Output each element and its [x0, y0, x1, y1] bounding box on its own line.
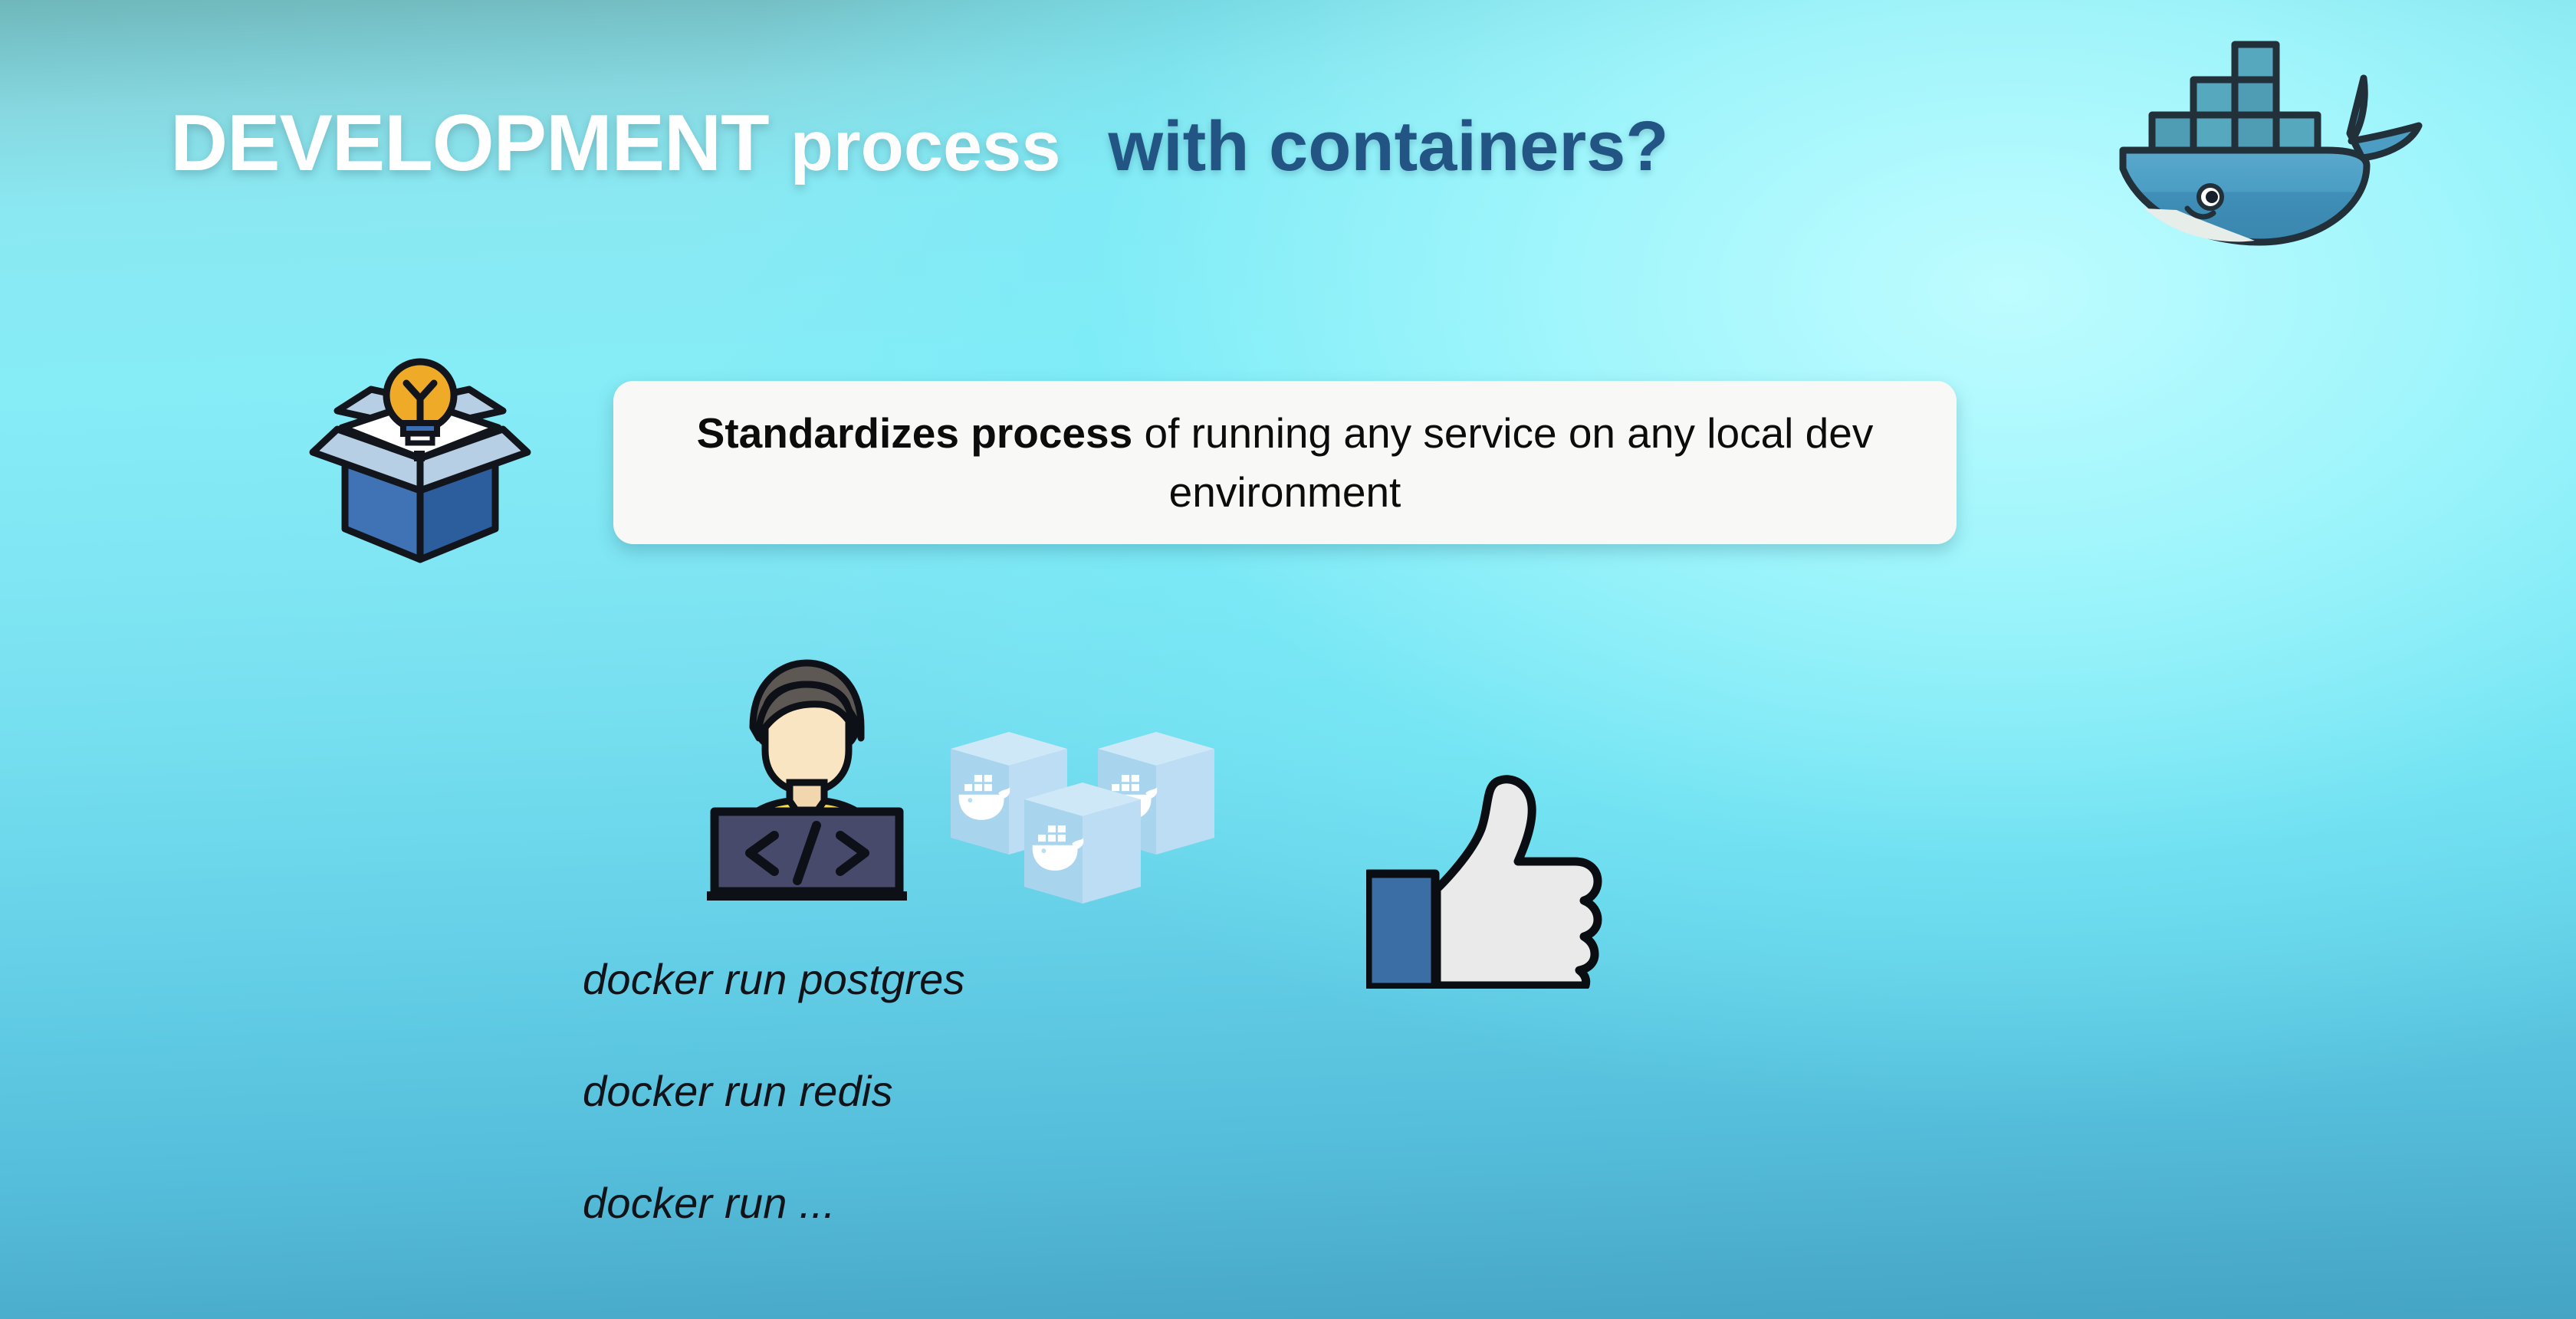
command-line: docker run redis [583, 1066, 1426, 1116]
callout-text: Standardizes process of running any serv… [613, 404, 1957, 522]
command-list: docker run postgres docker run redis doc… [583, 954, 1426, 1228]
lightbulb-in-open-box-icon [297, 343, 543, 573]
docker-container-cubes-icon [945, 717, 1221, 908]
title-accent: with containers? [1109, 107, 1669, 187]
callout-card: Standardizes process of running any serv… [613, 381, 1957, 544]
command-line: docker run postgres [583, 954, 1426, 1004]
command-line: docker run ... [583, 1178, 1426, 1228]
docker-whale-logo [2097, 18, 2449, 256]
title-regular: process [790, 107, 1061, 187]
page-title: DEVELOPMENT process with containers? [170, 98, 1668, 189]
title-emphasis: DEVELOPMENT [170, 98, 769, 189]
slide-canvas: DEVELOPMENT process with containers? [0, 0, 2576, 1319]
callout-bold: Standardizes process [697, 409, 1133, 457]
developer-at-laptop-icon [705, 648, 909, 901]
callout-rest: of running any service on any local dev … [1132, 409, 1873, 516]
